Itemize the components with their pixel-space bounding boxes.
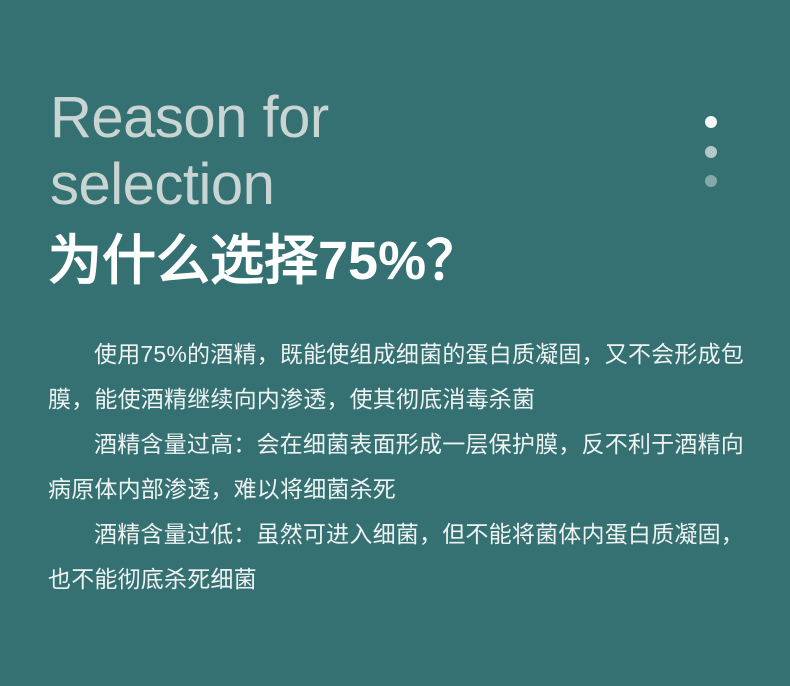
decorative-dot-column (705, 116, 719, 198)
circle-dot-icon (705, 175, 717, 187)
circle-dot-icon (705, 116, 717, 128)
promo-slide: Reason for selection 为什么选择75%？ 使用75%的酒精，… (0, 0, 790, 686)
paragraph: 酒精含量过高：会在细菌表面形成一层保护膜，反不利于酒精向病原体内部渗透，难以将细… (48, 422, 744, 512)
paragraph: 使用75%的酒精，既能使组成细菌的蛋白质凝固，又不会形成包膜，能使酒精继续向内渗… (48, 332, 744, 422)
eyebrow-heading-english: Reason for selection (50, 84, 650, 218)
paragraph: 酒精含量过低：虽然可进入细菌，但不能将菌体内蛋白质凝固，也不能彻底杀死细菌 (48, 512, 744, 602)
body-copy: 使用75%的酒精，既能使组成细菌的蛋白质凝固，又不会形成包膜，能使酒精继续向内渗… (48, 332, 744, 602)
circle-dot-icon (705, 146, 717, 158)
page-title: 为什么选择75%？ (48, 230, 480, 292)
